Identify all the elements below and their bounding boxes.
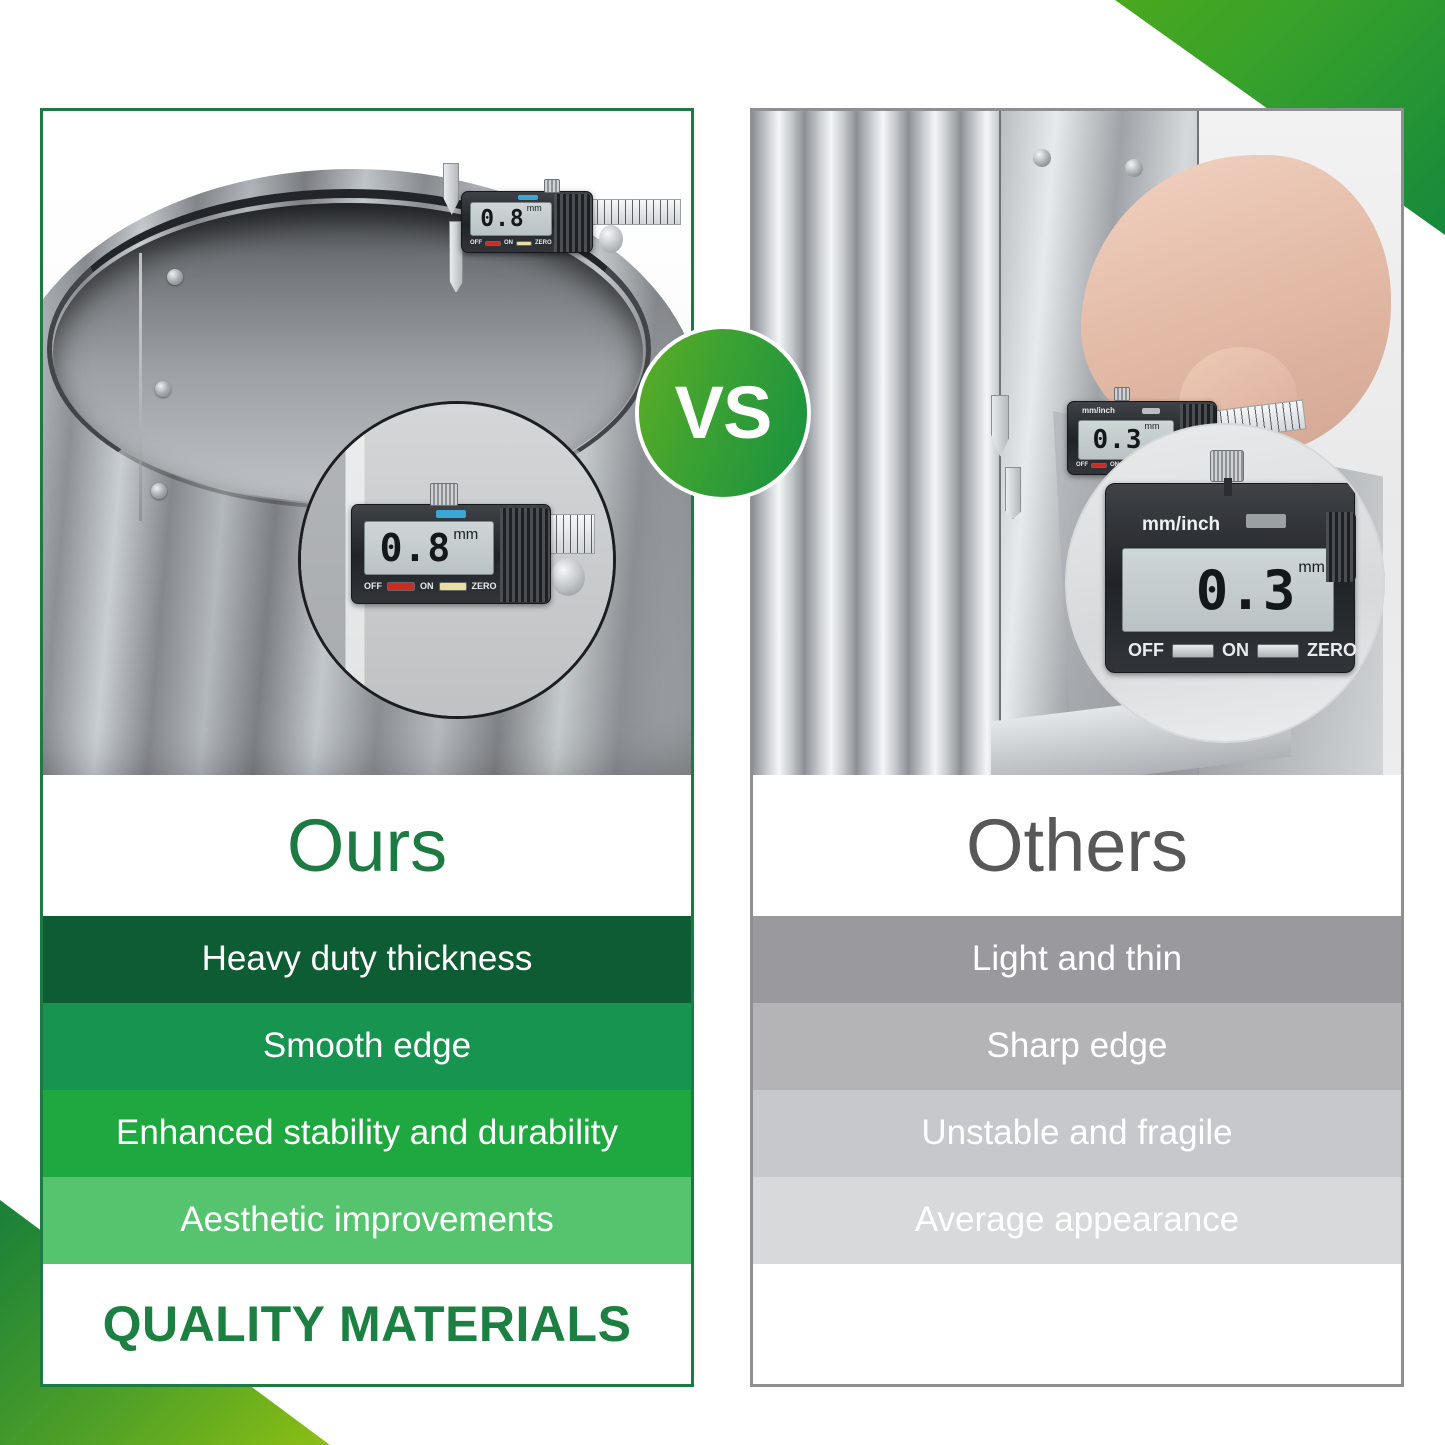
caliper-zero-switch: [439, 582, 467, 591]
others-magnified-caliper: mm/inch 0.3 mm OFF ON ZERO: [1075, 459, 1385, 709]
caliper-body: 0.8 mm OFF ON ZERO: [351, 504, 551, 604]
comparison-infographic: 0.8 mm OFF ON ZERO: [0, 0, 1445, 1445]
caliper-upper-jaw: [443, 163, 459, 215]
others-heading-band: Others: [753, 775, 1401, 916]
ours-magnified-caliper: 0.8 mm OFF ON ZERO: [325, 470, 595, 660]
caliper-ticks: [590, 200, 680, 224]
caliper-button-row: OFF ON ZERO: [1128, 640, 1357, 661]
ours-feature-row: Smooth edge: [43, 1003, 691, 1090]
others-product-photo: mm/inch 0.3 mm OFF ON ZERO: [753, 111, 1401, 775]
others-feature-list: Light and thinSharp edgeUnstable and fra…: [753, 916, 1401, 1264]
caliper-grip: [500, 508, 550, 602]
caliper-on-label: ON: [420, 581, 434, 591]
ours-feature-label: Aesthetic improvements: [180, 1201, 553, 1240]
caliper-power-switch: [485, 241, 501, 246]
caliper-power-switch: [1172, 644, 1214, 658]
ours-feature-row: Enhanced stability and durability: [43, 1090, 691, 1177]
caliper-button-row: OFF ON ZERO: [364, 581, 497, 591]
bolt-icon: [1033, 149, 1051, 167]
rivet-icon: [151, 483, 167, 499]
caliper-zero-label: ZERO: [1307, 640, 1357, 661]
caliper-lock-knob: [430, 483, 458, 506]
others-feature-row: Sharp edge: [753, 1003, 1401, 1090]
ours-magnifier-circle: 0.8 mm OFF ON ZERO: [298, 401, 616, 719]
caliper-thumbwheel: [551, 558, 585, 596]
caliper-on-label: ON: [1222, 640, 1249, 661]
others-feature-row: Unstable and fragile: [753, 1090, 1401, 1177]
caliper-lock-knob: [1114, 387, 1130, 401]
caliper-zero-label: ZERO: [472, 581, 497, 591]
caliper-reading-unit: mm: [1298, 559, 1325, 577]
caliper-zero-switch: [516, 241, 532, 246]
quality-materials-label: QUALITY MATERIALS: [103, 1295, 632, 1353]
caliper-reading-unit: mm: [453, 526, 478, 543]
caliper-mode-label: mm/inch: [1082, 406, 1115, 415]
caliper-lcd-screen: 0.8 mm: [470, 202, 552, 236]
ours-feature-label: Enhanced stability and durability: [116, 1114, 618, 1153]
ours-digital-caliper: 0.8 mm OFF ON ZERO: [431, 163, 681, 293]
vs-badge: VS: [639, 329, 807, 497]
rivet-icon: [155, 381, 171, 397]
caliper-off-label: OFF: [364, 581, 382, 591]
others-panel: mm/inch 0.3 mm OFF ON ZERO: [750, 108, 1404, 1387]
caliper-lcd-screen: 0.3 mm: [1122, 548, 1334, 632]
caliper-grip: [554, 194, 592, 252]
others-feature-label: Sharp edge: [987, 1027, 1168, 1066]
caliper-upper-jaw: [991, 395, 1009, 457]
caliper-off-label: OFF: [470, 240, 482, 246]
others-feature-label: Average appearance: [915, 1201, 1239, 1240]
ours-panel: 0.8 mm OFF ON ZERO: [40, 108, 694, 1387]
caliper-mode-button: [436, 510, 466, 518]
caliper-reading-value: 0.8: [480, 206, 525, 232]
ours-product-photo: 0.8 mm OFF ON ZERO: [43, 111, 691, 775]
rivet-icon: [167, 269, 183, 285]
caliper-grip: [1326, 512, 1356, 582]
ours-feature-row: Aesthetic improvements: [43, 1177, 691, 1264]
caliper-mode-button: [1142, 408, 1160, 414]
others-heading: Others: [966, 809, 1188, 883]
caliper-lock-stem: [1224, 478, 1232, 496]
caliper-body: mm/inch 0.3 mm OFF ON ZERO: [1105, 483, 1355, 673]
others-magnifier-circle: mm/inch 0.3 mm OFF ON ZERO: [1065, 423, 1385, 743]
ours-feature-label: Heavy duty thickness: [202, 940, 533, 979]
caliper-reading-unit: mm: [527, 203, 542, 213]
caliper-body: 0.8 mm OFF ON ZERO: [461, 191, 593, 253]
caliper-lcd-screen: 0.8 mm: [364, 521, 494, 575]
caliper-mode-button: [518, 195, 538, 200]
others-feature-row: Light and thin: [753, 916, 1401, 1003]
caliper-power-switch: [387, 582, 415, 591]
others-feature-label: Light and thin: [972, 940, 1182, 979]
others-footer-band: [753, 1264, 1401, 1384]
ours-feature-row: Heavy duty thickness: [43, 916, 691, 1003]
caliper-reading-value: 0.3: [1196, 559, 1297, 622]
others-feature-label: Unstable and fragile: [921, 1114, 1232, 1153]
ours-feature-list: Heavy duty thicknessSmooth edgeEnhanced …: [43, 916, 691, 1264]
ours-heading-band: Ours: [43, 775, 691, 916]
ours-feature-label: Smooth edge: [263, 1027, 471, 1066]
caliper-mode-label: mm/inch: [1142, 514, 1220, 536]
ours-heading: Ours: [287, 809, 447, 883]
caliper-zero-switch: [1257, 644, 1299, 658]
caliper-mode-button: [1246, 514, 1286, 528]
caliper-button-row: OFF ON ZERO: [470, 240, 552, 246]
caliper-zero-label: ZERO: [535, 240, 552, 246]
caliper-on-label: ON: [504, 240, 513, 246]
caliper-lock-knob: [544, 179, 560, 193]
caliper-thumbwheel: [599, 225, 623, 253]
caliper-reading-unit: mm: [1144, 421, 1159, 431]
ours-footer-band: QUALITY MATERIALS: [43, 1264, 691, 1384]
vs-label: VS: [675, 376, 772, 450]
bolt-icon: [1125, 159, 1143, 177]
caliper-reading-value: 0.8: [380, 526, 452, 570]
others-feature-row: Average appearance: [753, 1177, 1401, 1264]
caliper-scale-bar: [589, 199, 681, 225]
panel-seam-line: [139, 253, 142, 521]
caliper-lower-jaw: [1005, 467, 1021, 519]
caliper-off-label: OFF: [1128, 640, 1164, 661]
